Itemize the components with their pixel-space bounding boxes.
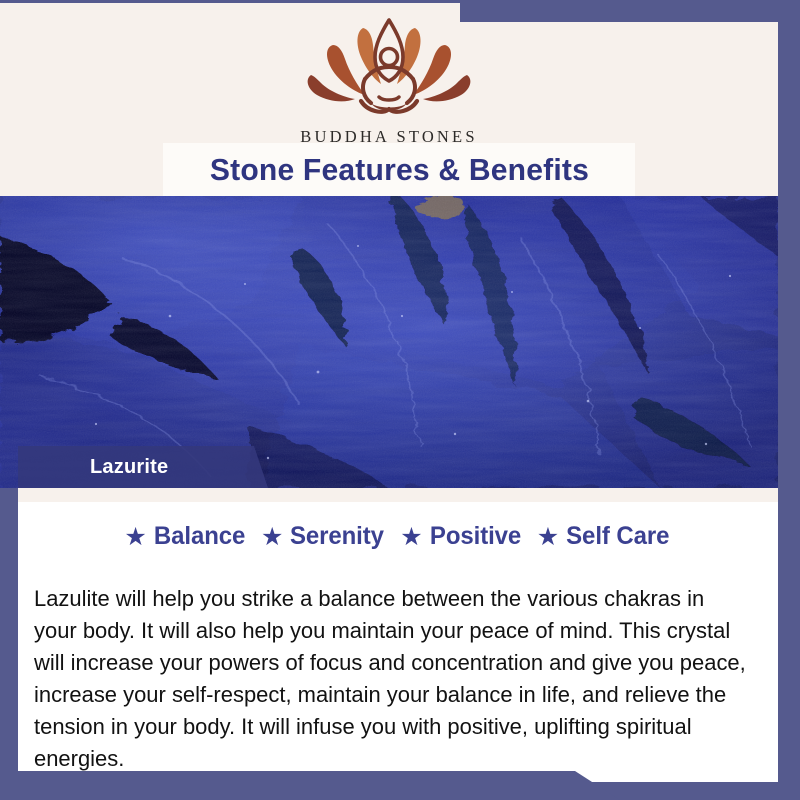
page-title: Stone Features & Benefits bbox=[209, 152, 588, 188]
star-icon: ★ bbox=[537, 525, 559, 550]
benefit-item-self-care: ★ Self Care bbox=[537, 522, 672, 551]
stone-name-label: Lazurite bbox=[18, 456, 168, 479]
body-panel: ★ Balance ★ Serenity ★ Positive ★ Self C… bbox=[18, 488, 778, 783]
benefit-label: Self Care bbox=[566, 522, 669, 551]
lotus-meditation-figure-icon bbox=[0, 17, 778, 124]
stone-benefits-infographic: BUDDHA STONES Stone Features & Benefits bbox=[0, 0, 800, 800]
benefit-item-positive: ★ Positive bbox=[400, 522, 523, 551]
benefits-row: ★ Balance ★ Serenity ★ Positive ★ Self C… bbox=[18, 522, 778, 551]
frame-right-accent bbox=[778, 0, 800, 790]
benefit-label: Balance bbox=[154, 522, 245, 551]
stone-name-banner: Lazurite bbox=[18, 446, 268, 488]
benefit-item-serenity: ★ Serenity bbox=[261, 522, 386, 551]
star-icon: ★ bbox=[400, 525, 422, 550]
frame-top-accent bbox=[460, 0, 800, 22]
benefit-label: Positive bbox=[430, 522, 521, 551]
benefit-label: Serenity bbox=[290, 522, 384, 551]
panel-top-strip bbox=[18, 488, 778, 502]
star-icon: ★ bbox=[261, 525, 283, 550]
star-icon: ★ bbox=[124, 525, 146, 550]
brand-logo: BUDDHA STONES bbox=[0, 17, 778, 147]
benefit-item-balance: ★ Balance bbox=[124, 522, 247, 551]
title-plaque: Stone Features & Benefits bbox=[163, 143, 635, 196]
stone-description: Lazulite will help you strike a balance … bbox=[34, 583, 749, 775]
stone-photo: Lazurite bbox=[0, 196, 778, 488]
